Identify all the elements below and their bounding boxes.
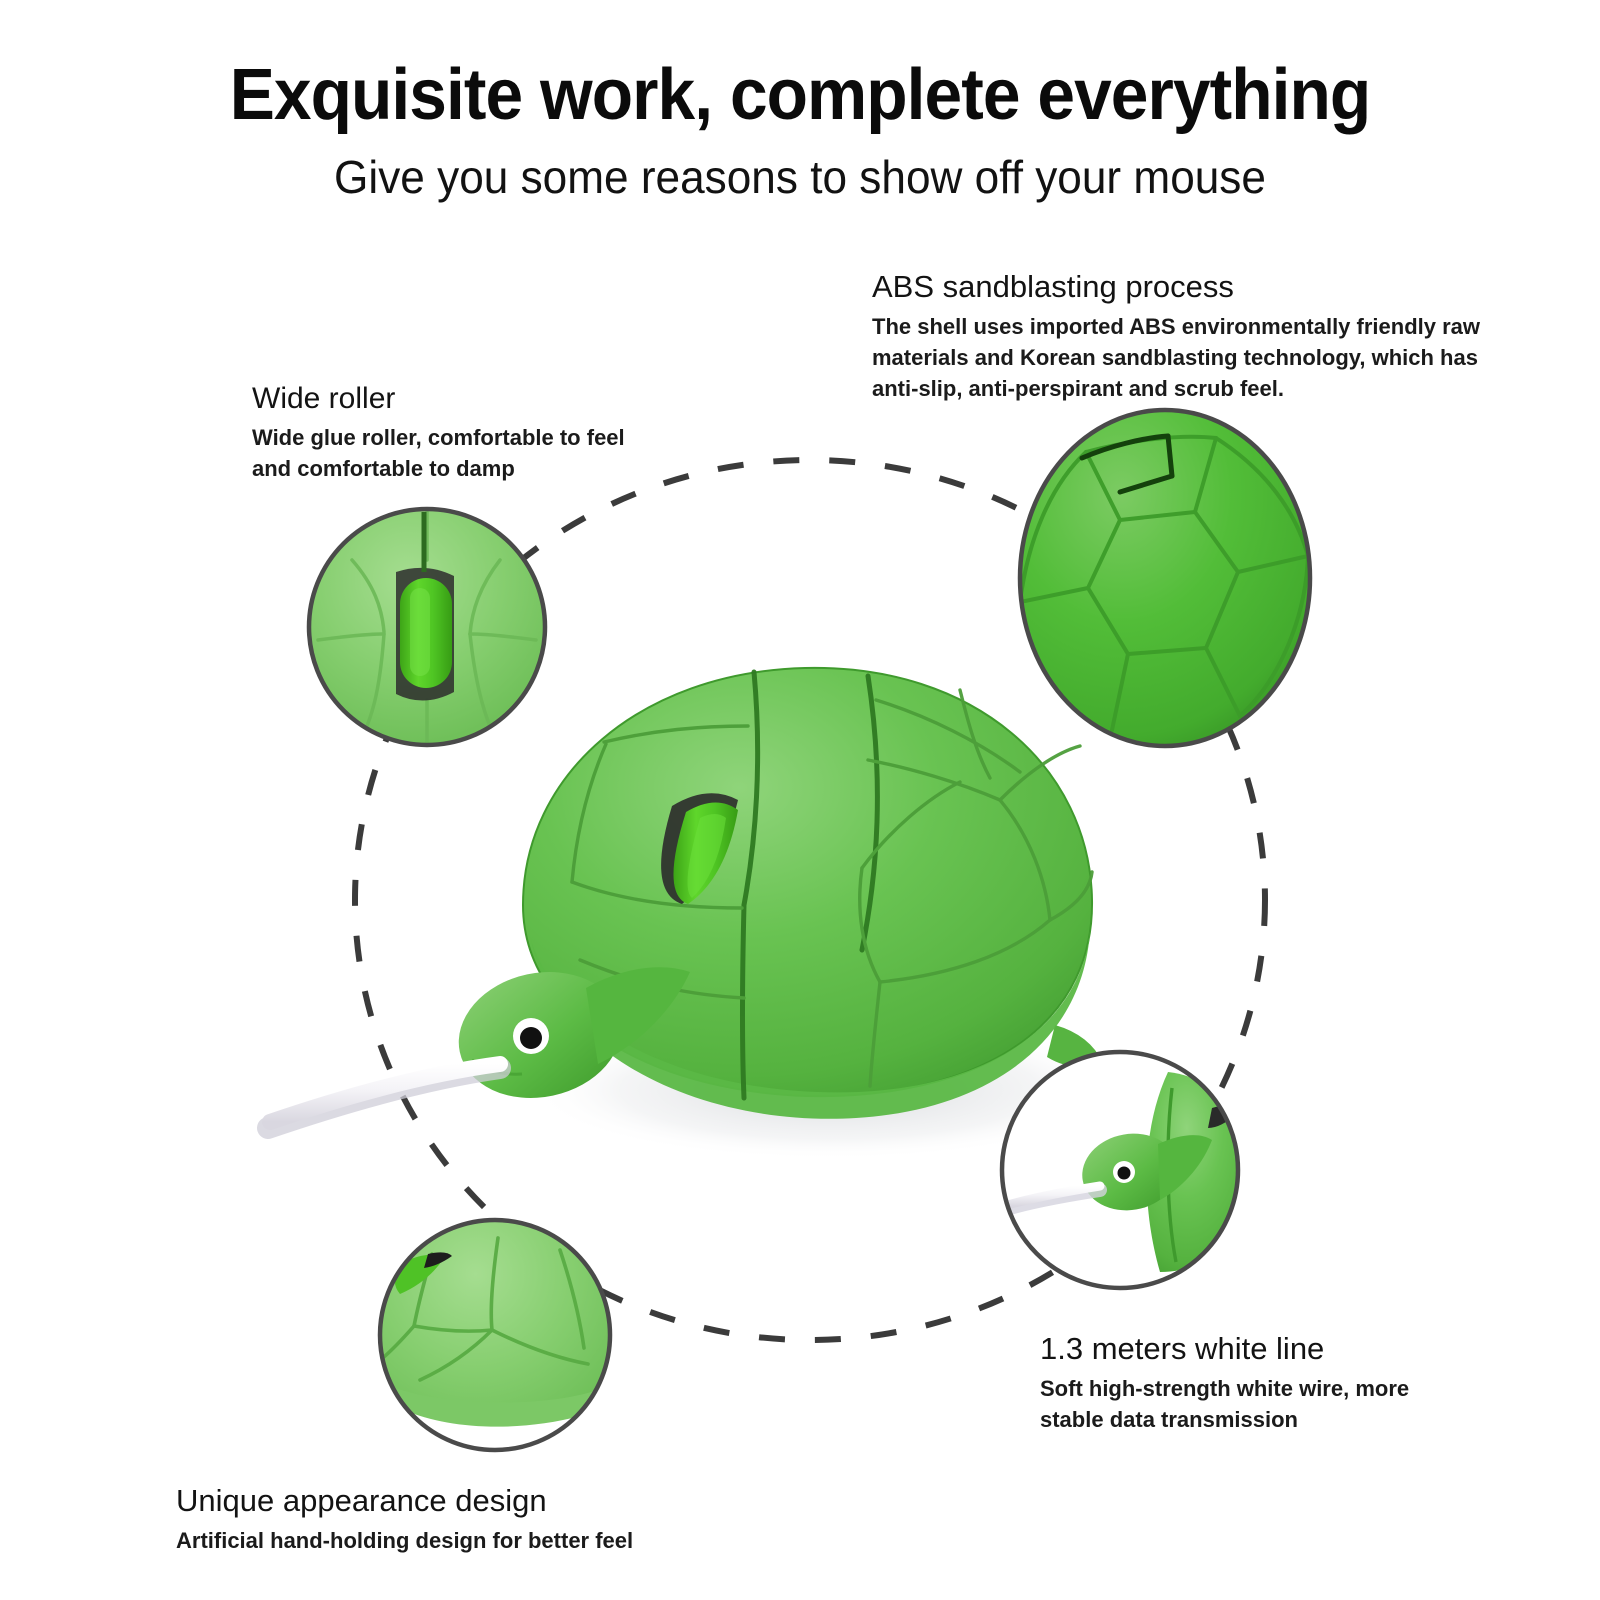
annotation-title: 1.3 meters white line <box>1040 1330 1460 1369</box>
annotation-line: Wide glue roller, comfortable to feel <box>252 422 672 453</box>
annotation-line: Soft high-strength white wire, more <box>1040 1373 1460 1404</box>
turtle-eye <box>513 1018 549 1054</box>
annotation-unique-appearance: Unique appearance design Artificial hand… <box>176 1482 676 1556</box>
annotation-line: materials and Korean sandblasting techno… <box>872 342 1532 373</box>
annotation-line: stable data transmission <box>1040 1404 1460 1435</box>
annotation-body: Artificial hand-holding design for bette… <box>176 1525 676 1556</box>
annotation-title: Unique appearance design <box>176 1482 676 1521</box>
callout-wide-roller <box>300 500 560 760</box>
annotation-wide-roller: Wide roller Wide glue roller, comfortabl… <box>252 380 672 484</box>
callout-abs-shell <box>1010 400 1330 760</box>
annotation-line: and comfortable to damp <box>252 453 672 484</box>
callout-white-wire <box>1000 1050 1252 1300</box>
product-infographic-page: Exquisite work, complete everything Give… <box>0 0 1600 1600</box>
annotation-title: Wide roller <box>252 380 672 418</box>
mouse-cable <box>268 1064 500 1128</box>
annotation-body: Soft high-strength white wire, more stab… <box>1040 1373 1460 1435</box>
annotation-body: The shell uses imported ABS environmenta… <box>872 311 1532 405</box>
annotation-abs-sandblasting: ABS sandblasting process The shell uses … <box>872 268 1532 404</box>
annotation-white-line: 1.3 meters white line Soft high-strength… <box>1040 1330 1460 1435</box>
annotation-body: Wide glue roller, comfortable to feel an… <box>252 422 672 484</box>
annotation-line: The shell uses imported ABS environmenta… <box>872 311 1532 342</box>
annotation-line: Artificial hand-holding design for bette… <box>176 1525 676 1556</box>
callout-unique-appearance <box>370 1202 620 1460</box>
annotation-line: anti-slip, anti-perspirant and scrub fee… <box>872 373 1532 404</box>
annotation-title: ABS sandblasting process <box>872 268 1532 307</box>
